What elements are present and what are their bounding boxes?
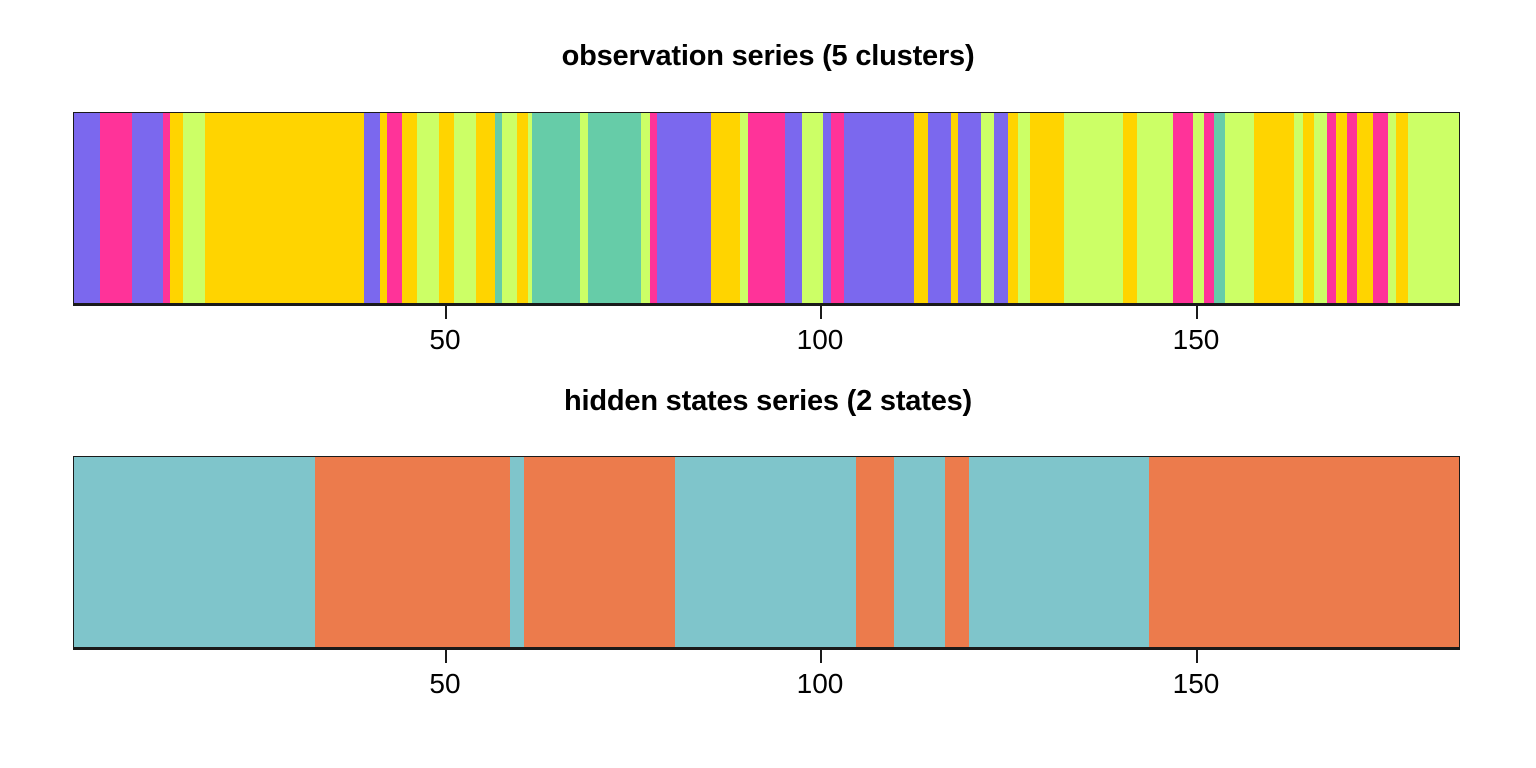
band-segment [1008,113,1018,303]
band-segment [402,113,417,303]
band-segment [914,113,928,303]
band-segment [1347,113,1357,303]
band-segment [823,113,831,303]
band-segment [1327,113,1336,303]
band-segment [1204,113,1214,303]
band-segment [1123,113,1137,303]
x-axis-tick [445,304,447,319]
band-segment [951,113,958,303]
band-segment [981,113,994,303]
x-axis-tick-label: 100 [797,668,844,700]
band-segment [502,113,517,303]
band-segment [1314,113,1327,303]
band-segment [831,113,844,303]
band-segment [641,113,650,303]
band-segment [205,113,364,303]
x-axis-tick [1196,304,1198,319]
figure-canvas: observation series (5 clusters) 50100150… [0,0,1536,768]
band-segment [1030,113,1064,303]
band-segment [1254,113,1294,303]
band-segment [495,113,502,303]
observation-band-strip [74,113,1459,303]
band-segment [315,457,510,647]
band-segment [170,113,183,303]
band-segment [1303,113,1314,303]
band-segment [183,113,205,303]
band-segment [524,457,675,647]
band-segment [928,113,951,303]
x-axis-tick-label: 50 [429,324,460,356]
band-segment [1149,457,1460,647]
band-segment [1388,113,1396,303]
x-axis-tick-label: 100 [797,324,844,356]
hidden-states-series-x-axis: 50100150 [73,648,1460,708]
band-segment [945,457,969,647]
band-segment [1336,113,1347,303]
band-segment [1357,113,1373,303]
hidden-states-series-title: hidden states series (2 states) [0,385,1536,418]
band-segment [1193,113,1204,303]
band-segment [532,113,580,303]
band-segment [711,113,740,303]
x-axis-tick-label: 150 [1173,668,1220,700]
observation-series-plot [73,112,1460,304]
band-segment [994,113,1008,303]
band-segment [675,457,856,647]
band-segment [74,457,315,647]
band-segment [1018,113,1030,303]
band-segment [387,113,402,303]
band-segment [740,113,748,303]
band-segment [1294,113,1303,303]
band-segment [1173,113,1193,303]
x-axis-line [73,304,1460,306]
band-segment [1137,113,1173,303]
band-segment [417,113,439,303]
band-segment [1214,113,1225,303]
band-segment [163,113,170,303]
band-segment [785,113,802,303]
band-segment [657,113,711,303]
x-axis-line [73,648,1460,650]
x-axis-tick-label: 150 [1173,324,1220,356]
band-segment [132,113,163,303]
band-segment [1225,113,1254,303]
band-segment [894,457,945,647]
band-segment [856,457,894,647]
band-segment [364,113,380,303]
observation-series-x-axis: 50100150 [73,304,1460,364]
x-axis-tick [1196,648,1198,663]
band-segment [100,113,132,303]
band-segment [844,113,914,303]
band-segment [476,113,495,303]
band-segment [439,113,454,303]
band-segment [73,113,100,303]
hidden-states-series-plot [73,456,1460,648]
band-segment [1408,113,1460,303]
band-segment [958,113,981,303]
band-segment [650,113,657,303]
band-segment [454,113,476,303]
band-segment [1373,113,1388,303]
band-segment [510,457,524,647]
hidden-states-band-strip [74,457,1459,647]
band-segment [969,457,1149,647]
x-axis-tick [445,648,447,663]
x-axis-tick [820,648,822,663]
band-segment [1396,113,1408,303]
band-segment [380,113,387,303]
band-segment [517,113,528,303]
x-axis-tick [820,304,822,319]
observation-series-title: observation series (5 clusters) [0,40,1536,73]
x-axis-tick-label: 50 [429,668,460,700]
band-segment [580,113,588,303]
band-segment [588,113,641,303]
band-segment [802,113,823,303]
band-segment [1064,113,1123,303]
band-segment [748,113,785,303]
